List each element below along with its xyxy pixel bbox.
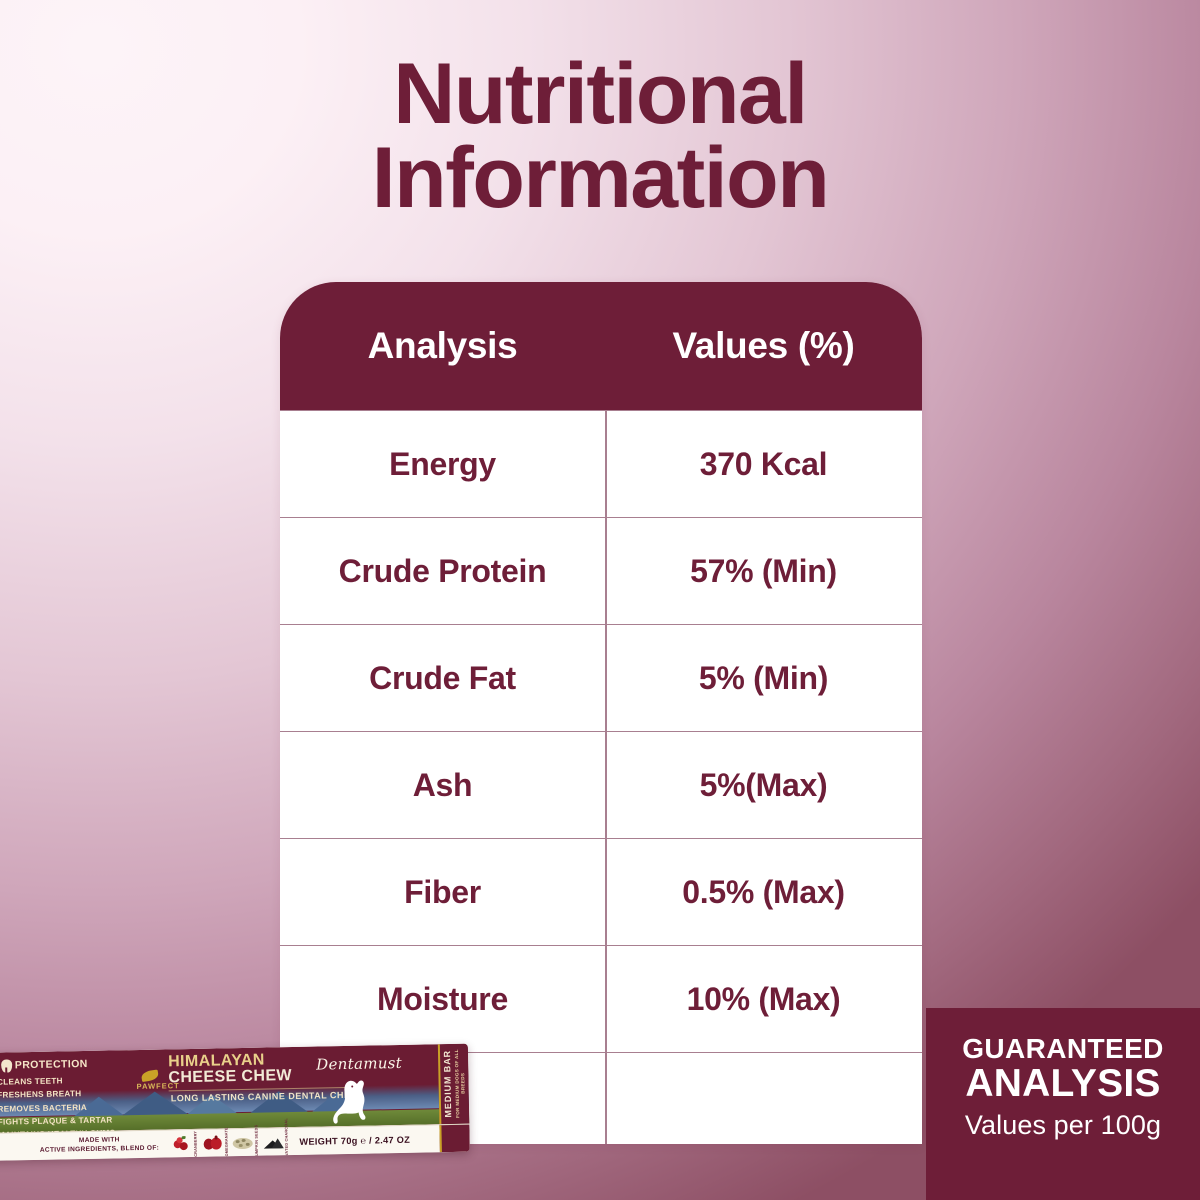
cell-analysis: Crude Fat bbox=[280, 660, 605, 697]
paw-leaf-icon bbox=[140, 1069, 158, 1082]
cell-value: 5%(Max) bbox=[605, 767, 922, 804]
page-title-line-1: Nutritional bbox=[0, 52, 1200, 136]
nutrition-table: Analysis Values (%) Energy 370 Kcal Crud… bbox=[280, 282, 922, 1144]
table-body: Energy 370 Kcal Crude Protein 57% (Min) … bbox=[280, 410, 922, 1144]
ingredient-item: PUMPKIN SEEDS bbox=[231, 1125, 259, 1160]
column-header-values: Values (%) bbox=[605, 325, 922, 367]
product-package-image: 5 PROTECTION · CLEANS TEETH · FRESHENS B… bbox=[0, 1044, 470, 1161]
table-row: Energy 370 Kcal bbox=[280, 410, 922, 517]
table-row: Fiber 0.5% (Max) bbox=[280, 838, 922, 945]
table-row: Crude Protein 57% (Min) bbox=[280, 517, 922, 624]
cell-value: 10% (Max) bbox=[605, 981, 922, 1018]
package-strip-continuation bbox=[439, 1125, 470, 1153]
cell-analysis: Moisture bbox=[280, 981, 605, 1018]
ingredient-label: CRANBERRY bbox=[194, 1130, 199, 1156]
cell-value: 370 Kcal bbox=[605, 446, 922, 483]
package-size-strip: MEDIUM BAR FOR MEDIUM DOGS OF ALL BREEDS bbox=[438, 1044, 470, 1125]
variant-script-label: Dentamust bbox=[316, 1054, 402, 1074]
protection-label: PROTECTION bbox=[15, 1058, 88, 1071]
size-label: MEDIUM BAR bbox=[442, 1050, 453, 1118]
infographic-canvas: Nutritional Information Analysis Values … bbox=[0, 0, 1200, 1200]
cell-analysis: Fiber bbox=[280, 874, 605, 911]
ingredient-item: POMEGRANATE bbox=[201, 1127, 229, 1159]
badge-line-analysis: ANALYSIS bbox=[926, 1064, 1200, 1105]
badge-line-values-per-100g: Values per 100g bbox=[926, 1110, 1200, 1141]
cranberry-icon bbox=[171, 1134, 193, 1152]
made-with-label: MADE WITH ACTIVE INGREDIENTS, BLEND OF: bbox=[40, 1135, 160, 1155]
pawfect-logo: PAWFECT bbox=[136, 1070, 162, 1090]
cell-value: 0.5% (Max) bbox=[605, 874, 922, 911]
benefit-list: · CLEANS TEETH · FRESHENS BREATH · REMOV… bbox=[0, 1073, 132, 1133]
page-title-line-2: Information bbox=[0, 136, 1200, 220]
pomegranate-icon bbox=[201, 1134, 223, 1152]
cell-analysis: Ash bbox=[280, 767, 605, 804]
net-weight-label: WEIGHT 70g ℮ / 2.47 OZ bbox=[299, 1134, 410, 1146]
brand-name: PAWFECT bbox=[137, 1081, 163, 1090]
column-header-analysis: Analysis bbox=[280, 325, 605, 367]
made-with-line-2: ACTIVE INGREDIENTS, BLEND OF: bbox=[40, 1144, 159, 1155]
dog-silhouette-icon bbox=[317, 1079, 380, 1126]
protection-headline: 5 PROTECTION bbox=[0, 1056, 130, 1073]
column-separator bbox=[605, 410, 607, 1144]
cell-value: 5% (Min) bbox=[605, 660, 922, 697]
tooth-icon bbox=[1, 1059, 12, 1072]
ingredient-label: PUMPKIN SEEDS bbox=[254, 1125, 259, 1159]
cell-analysis: Crude Protein bbox=[280, 553, 605, 590]
ingredient-label: POMEGRANATE bbox=[224, 1127, 229, 1159]
package-title-block: PAWFECT HIMALAYAN CHEESE CHEW LONG LASTI… bbox=[130, 1044, 439, 1130]
table-row: Ash 5%(Max) bbox=[280, 731, 922, 838]
cell-analysis: Energy bbox=[280, 446, 605, 483]
package-front-panel: 5 PROTECTION · CLEANS TEETH · FRESHENS B… bbox=[0, 1044, 469, 1133]
size-sublabel: FOR MEDIUM DOGS OF ALL BREEDS bbox=[454, 1044, 467, 1124]
cell-value: 57% (Min) bbox=[605, 553, 922, 590]
table-row: Crude Fat 5% (Min) bbox=[280, 624, 922, 731]
table-header-row: Analysis Values (%) bbox=[280, 282, 922, 410]
table-row: Moisture 10% (Max) bbox=[280, 945, 922, 1052]
pumpkin-seeds-icon bbox=[232, 1133, 254, 1151]
ingredient-item: CRANBERRY bbox=[171, 1130, 199, 1156]
package-benefits-block: 5 PROTECTION · CLEANS TEETH · FRESHENS B… bbox=[0, 1050, 131, 1133]
badge-line-guaranteed: GUARANTEED bbox=[926, 1034, 1200, 1064]
page-title: Nutritional Information bbox=[0, 52, 1200, 221]
guaranteed-analysis-badge: GUARANTEED ANALYSIS Values per 100g bbox=[926, 1008, 1200, 1200]
activated-charcoal-icon bbox=[262, 1133, 284, 1151]
